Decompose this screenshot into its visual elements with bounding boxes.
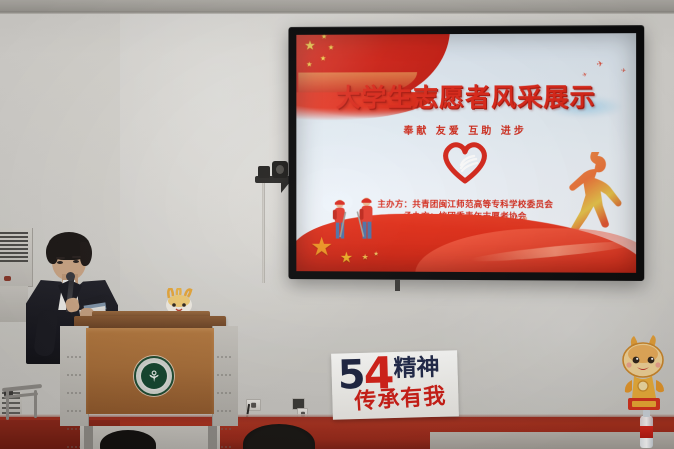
speaker-eye-left — [57, 261, 63, 264]
wall-display[interactable]: ★ ★ ★ ★ ★ ✈ ✈ ✈ 大学生志愿者风采展示 奉献 友爱 互助 进步 — [288, 25, 644, 281]
mascot-standee — [618, 334, 670, 418]
flag-star-small-2: ★ — [328, 45, 334, 52]
presentation-slide: ★ ★ ★ ★ ★ ✈ ✈ ✈ 大学生志愿者风采展示 奉献 友爱 互助 进步 — [296, 33, 636, 273]
ac-indicator — [4, 276, 11, 281]
folding-chair — [0, 370, 48, 420]
microphone-head-icon — [66, 272, 75, 281]
photo-scene: ★ ★ ★ ★ ★ ✈ ✈ ✈ 大学生志愿者风采展示 奉献 友爱 互助 进步 — [0, 0, 674, 449]
floor-right — [430, 432, 674, 449]
bottle-label — [640, 426, 653, 438]
podium-top — [74, 316, 226, 328]
podium-speaker-grille-left — [66, 346, 82, 398]
flag-star-small-4: ★ — [306, 62, 312, 69]
volunteer-figure-2 — [356, 196, 378, 242]
slide-title: 大学生志愿者风采展示 — [296, 77, 636, 114]
school-emblem: ⚘ — [134, 356, 174, 396]
speaker-hair-left — [46, 242, 58, 264]
bottle-cap — [643, 410, 650, 417]
flag-star-large: ★ — [304, 39, 315, 52]
water-bottle — [640, 408, 653, 448]
podium: ⚘ — [62, 322, 235, 449]
display-screen[interactable]: ★ ★ ★ ★ ★ ✈ ✈ ✈ 大学生志愿者风采展示 奉献 友爱 互助 进步 — [296, 33, 636, 273]
podium-speaker-grille-right — [216, 346, 232, 398]
podium-leg-left — [84, 426, 93, 449]
bottom-star-2: ★ — [340, 250, 353, 265]
speaker-brow-left — [56, 257, 65, 259]
camera-pole — [262, 183, 265, 283]
speaker-eye-right — [73, 260, 79, 263]
camera-lens-icon — [276, 165, 284, 174]
sign-word: 精神 — [393, 357, 440, 381]
bird-icon-2: ✈ — [620, 67, 626, 75]
spirit-sign-board: 5 4 精神 传承有我 — [331, 350, 459, 419]
sign-line-2: 传承有我 — [354, 385, 447, 413]
speaker-brow-right — [72, 256, 81, 258]
display-mount-foot — [395, 279, 400, 291]
volunteer-figure-1 — [330, 198, 350, 242]
flag-star-small-1: ★ — [321, 34, 327, 41]
podium-leg-right — [208, 426, 217, 449]
camera-body — [258, 166, 270, 178]
bottom-star-4: ★ — [373, 252, 378, 258]
ceiling-seam — [0, 11, 674, 14]
emblem-glyph-icon: ⚘ — [147, 369, 160, 384]
speaker-hair-right — [80, 242, 92, 266]
volunteer-heart-logo — [439, 138, 491, 184]
bottom-star-3: ★ — [362, 254, 369, 262]
bird-icon-1: ✈ — [596, 59, 605, 69]
flag-star-small-3: ★ — [320, 56, 326, 63]
slide-subtitle: 奉献 友爱 互助 进步 — [296, 122, 636, 137]
